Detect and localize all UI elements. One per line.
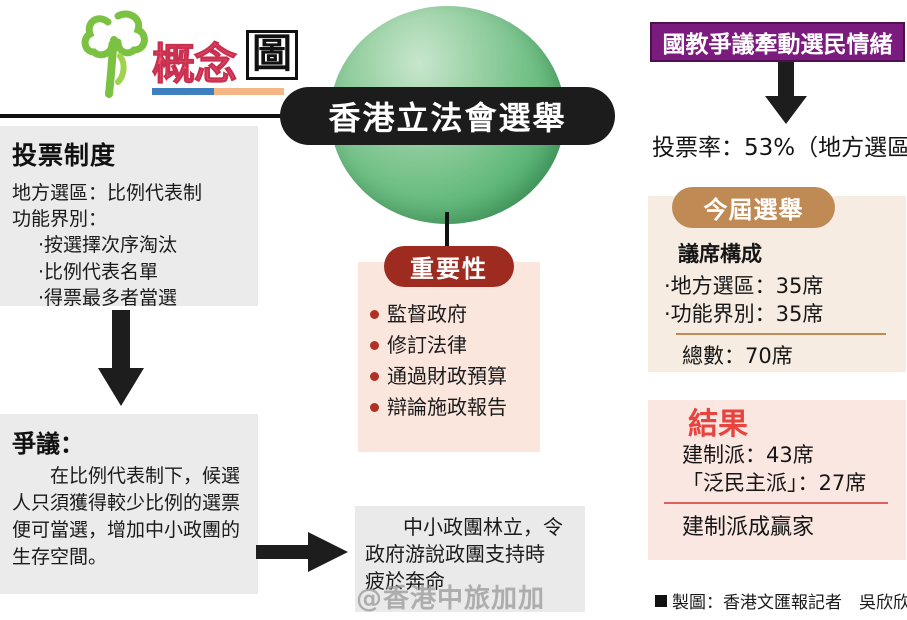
title-connector-line xyxy=(0,114,282,118)
importance-item: 監督政府 xyxy=(370,304,507,324)
bullet-dot-icon xyxy=(370,341,379,350)
current-election-box: 今屆選舉 議席構成 ·地方選區：35席 ·功能界別：35席 總數：70席 xyxy=(648,196,906,372)
down-arrow-icon xyxy=(765,62,807,124)
importance-item-label: 辯論施政報告 xyxy=(387,397,507,417)
national-education-banner: 國教爭議牽動選民情緒 xyxy=(650,22,905,62)
bullet-dot-icon xyxy=(370,310,379,319)
credit-line: 製圖：香港文匯報記者 吳欣欣 xyxy=(655,588,907,613)
result-divider xyxy=(664,502,888,504)
infographic-canvas: 概念 圖 香港立法會選舉 投票制度 地方選區：比例代表制 功能界別： ·按選擇次… xyxy=(0,0,907,620)
voting-system-sub-1: ·比例代表名單 xyxy=(12,259,248,285)
bullet-dot-icon xyxy=(370,403,379,412)
logo-text-concept: 概念 xyxy=(152,30,236,92)
importance-item: 通過財政預算 xyxy=(370,366,507,386)
square-bullet-icon xyxy=(655,595,667,607)
main-title-text: 香港立法會選舉 xyxy=(328,93,566,139)
voting-system-box: 投票制度 地方選區：比例代表制 功能界別： ·按選擇次序淘汰 ·比例代表名單 ·… xyxy=(0,126,258,306)
main-title-pill: 香港立法會選舉 xyxy=(280,87,615,145)
seat-composition-item-1: ·功能界別：35席 xyxy=(664,301,898,329)
voting-system-sub-0: ·按選擇次序淘汰 xyxy=(12,232,248,258)
seat-composition-item-0: ·地方選區：35席 xyxy=(664,273,898,301)
result-box: 結果 建制派：43席 「泛民主派」：27席 建制派成贏家 xyxy=(648,400,906,560)
importance-item: 辯論施政報告 xyxy=(370,397,507,417)
dispute-title: 爭議： xyxy=(12,424,246,459)
voting-system-sub-2: ·得票最多者當選 xyxy=(12,285,248,311)
importance-item-label: 監督政府 xyxy=(387,304,467,324)
dispute-body: 在比例代表制下，候選人只須獲得較少比例的選票便可當選，增加中小政團的生存空間。 xyxy=(12,463,246,571)
importance-item-label: 通過財政預算 xyxy=(387,366,507,386)
dispute-box: 爭議： 在比例代表制下，候選人只須獲得較少比例的選票便可當選，增加中小政團的生存… xyxy=(0,414,258,594)
bullet-dot-icon xyxy=(370,372,379,381)
importance-item: 修訂法律 xyxy=(370,335,507,355)
result-title: 結果 xyxy=(688,408,906,441)
result-line-0: 建制派：43席 xyxy=(682,441,906,469)
logo-underline-blue xyxy=(152,88,218,95)
right-arrow-icon xyxy=(256,532,348,572)
importance-box: 重要性 監督政府 修訂法律 通過財政預算 辯論施政報告 xyxy=(358,262,540,452)
seat-composition-heading: 議席構成 xyxy=(678,238,898,268)
credit-text: 製圖：香港文匯報記者 吳欣欣 xyxy=(672,588,907,613)
logo-underline-bar xyxy=(152,88,284,95)
voting-system-line-1: 功能界別： xyxy=(12,206,248,232)
down-arrow-icon xyxy=(98,310,144,406)
voting-system-title: 投票制度 xyxy=(12,136,248,172)
importance-pill: 重要性 xyxy=(384,246,514,287)
watermark-text: @香港中旅加加 xyxy=(356,578,606,614)
result-line-1: 「泛民主派」：27席 xyxy=(682,469,906,497)
green-clover-tree-icon xyxy=(78,6,158,98)
seat-composition-divider xyxy=(676,333,886,335)
logo-block: 概念 圖 xyxy=(68,4,280,104)
current-election-body: 議席構成 ·地方選區：35席 ·功能界別：35席 總數：70席 xyxy=(664,238,898,370)
result-conclusion: 建制派成贏家 xyxy=(682,509,906,541)
current-election-pill-label: 今屆選舉 xyxy=(704,190,804,225)
seat-total-text: 總數：70席 xyxy=(682,340,898,370)
national-education-banner-label: 國教爭議牽動選民情緒 xyxy=(663,25,893,59)
small-parties-line-1: 政府游說政團支持時 xyxy=(365,541,575,568)
turnout-rate-text: 投票率：53%（地方選區） xyxy=(652,128,907,162)
small-parties-line-0: 中小政團林立，令 xyxy=(365,514,575,541)
current-election-pill: 今屆選舉 xyxy=(672,187,835,228)
importance-pill-label: 重要性 xyxy=(410,249,488,284)
importance-item-label: 修訂法律 xyxy=(387,335,467,355)
logo-underline-orange xyxy=(214,88,284,95)
logo-text-diagram: 圖 xyxy=(246,30,298,80)
voting-system-line-0: 地方選區：比例代表制 xyxy=(12,180,248,206)
importance-list: 監督政府 修訂法律 通過財政預算 辯論施政報告 xyxy=(370,304,507,428)
